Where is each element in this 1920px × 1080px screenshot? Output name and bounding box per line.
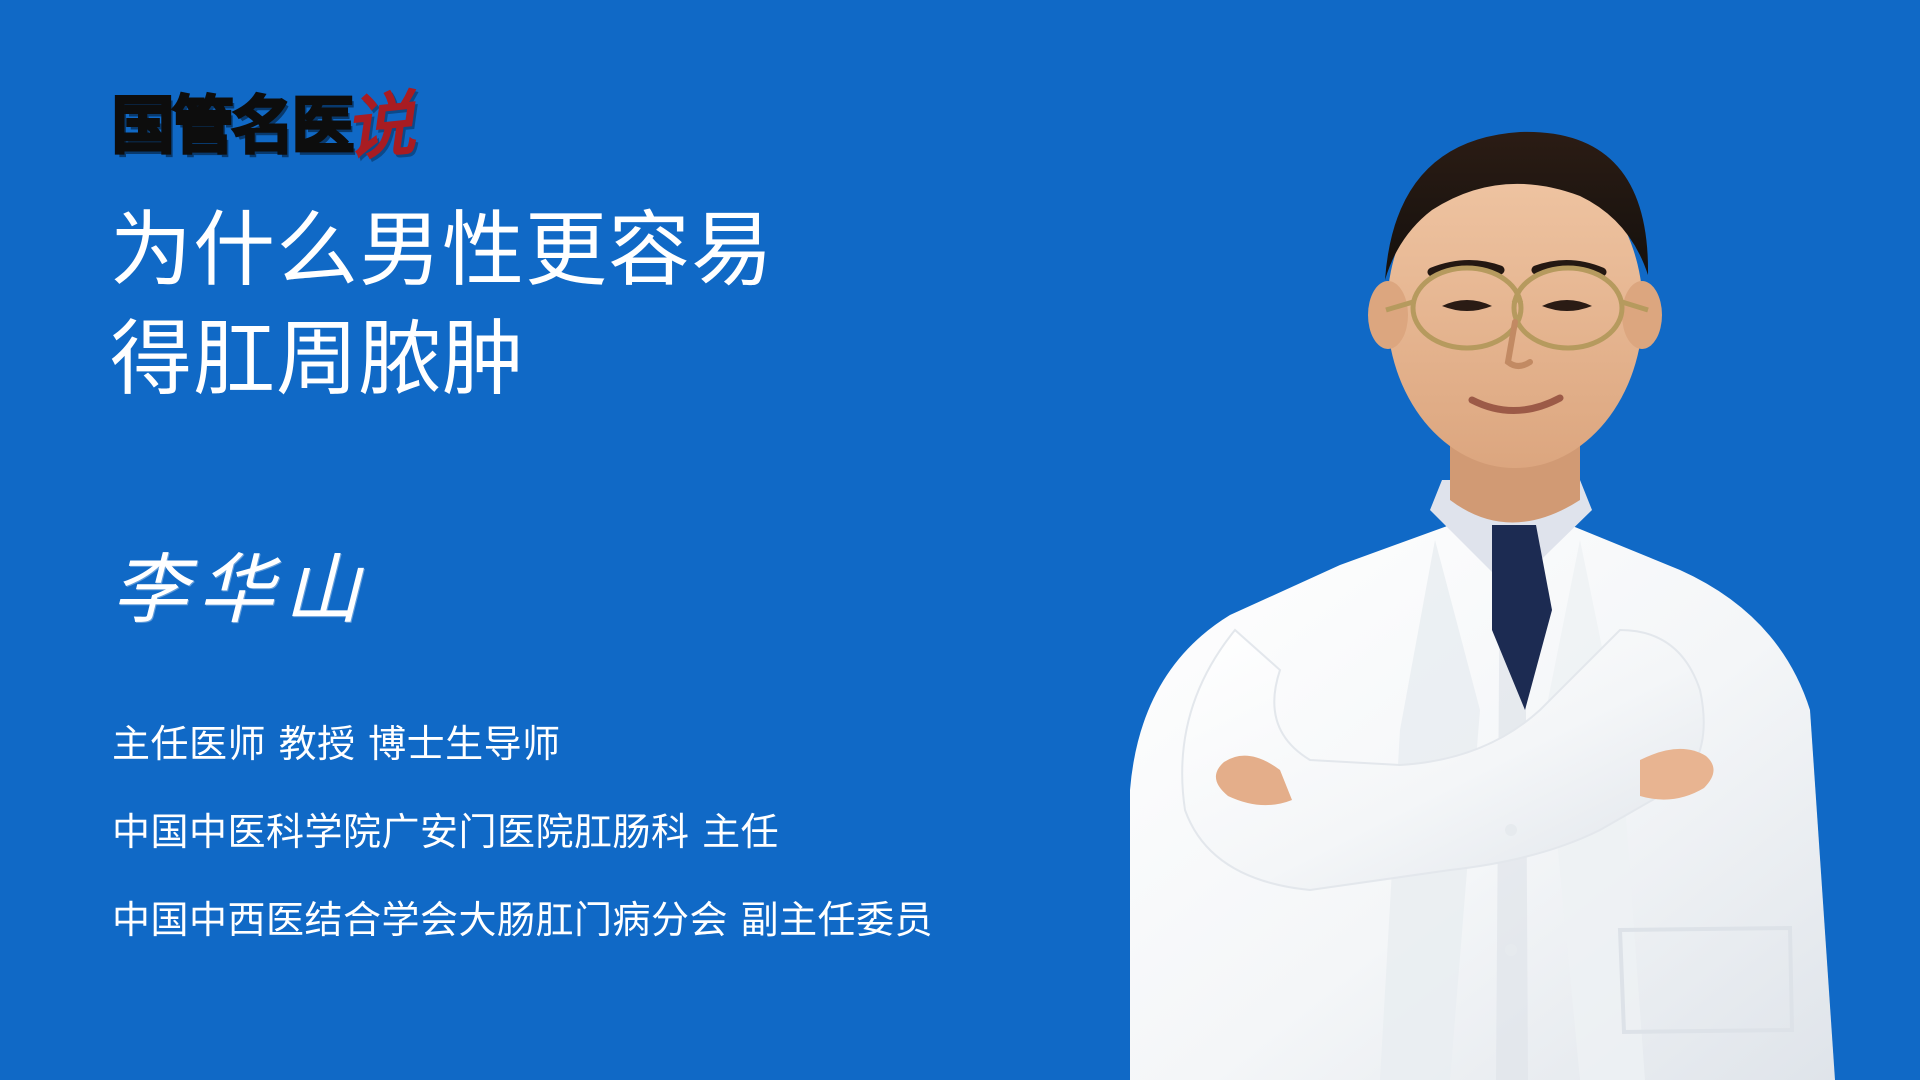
doctor-credentials: 主任医师 教授 博士生导师 中国中医科学院广安门医院肛肠科 主任 中国中西医结合… [112, 700, 1112, 964]
program-logo: 国管名医 说 [112, 88, 414, 166]
episode-title: 为什么男性更容易 得肛周脓肿 [110, 196, 990, 414]
credential-line-2: 中国中医科学院广安门医院肛肠科 主任 [112, 788, 1112, 876]
doctor-name: 李华山 [112, 552, 370, 628]
credential-line-1: 主任医师 教授 博士生导师 [112, 700, 1112, 788]
video-title-card: 国管名医 说 为什么男性更容易 得肛周脓肿 李华山 主任医师 教授 博士生导师 … [0, 0, 1920, 1080]
program-logo-accent-text: 说 [341, 89, 418, 166]
title-line-2: 得肛周脓肿 [110, 305, 990, 414]
title-line-1: 为什么男性更容易 [110, 196, 990, 305]
credential-line-3: 中国中西医结合学会大肠肛门病分会 副主任委员 [112, 876, 1112, 964]
program-logo-main-text: 国管名医 [112, 95, 352, 157]
